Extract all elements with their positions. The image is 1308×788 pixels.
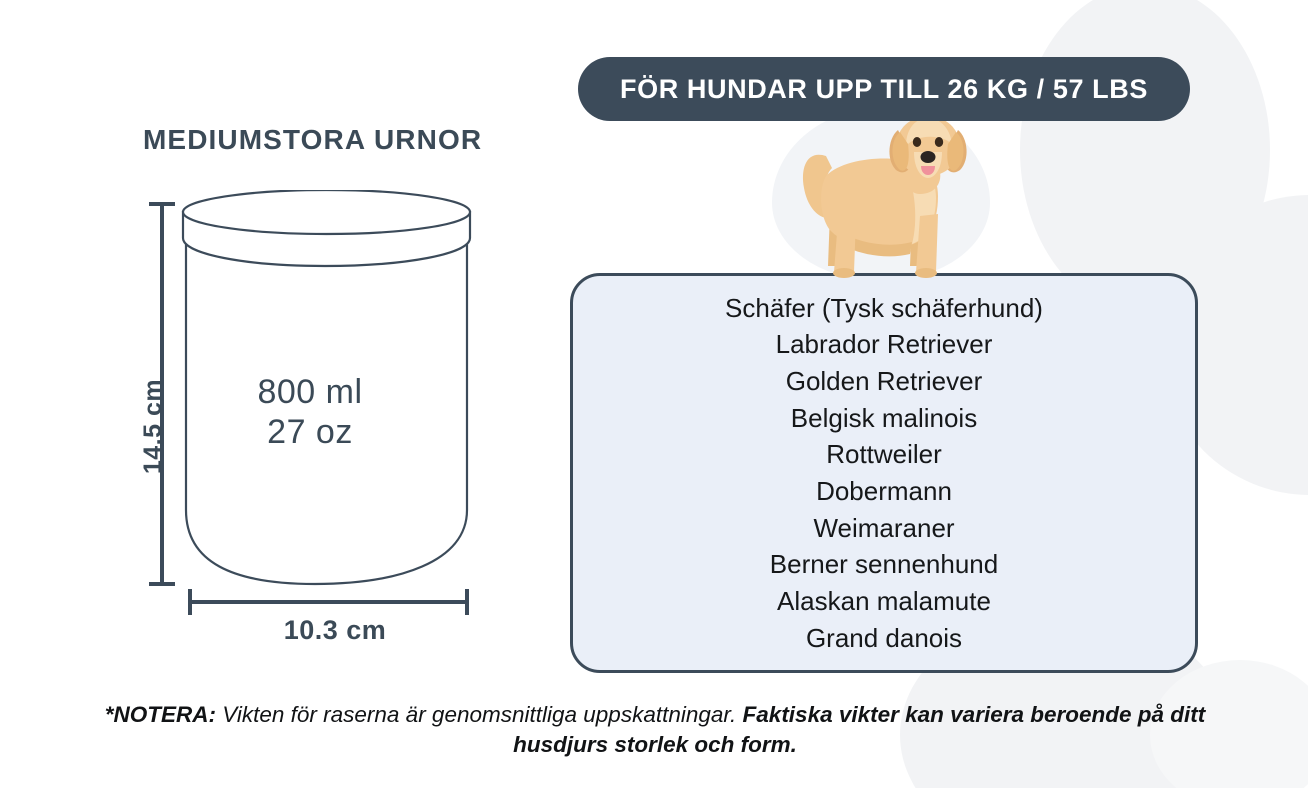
urn-diagram: 800 ml 27 oz 14.5 cm 10.3 cm <box>110 190 510 670</box>
dog-nose <box>921 151 936 163</box>
breed-item: Belgisk malinois <box>791 400 977 437</box>
breed-item: Schäfer (Tysk schäferhund) <box>725 290 1043 327</box>
urn-illustration-svg <box>110 190 510 670</box>
breed-item: Golden Retriever <box>786 363 983 400</box>
footnote-body-regular: Vikten för raserna är genomsnittliga upp… <box>216 702 743 727</box>
golden-retriever-icon <box>786 104 986 282</box>
background-circle-1 <box>1020 0 1270 315</box>
weight-banner-text: FÖR HUNDAR UPP TILL 26 KG / 57 LBS <box>620 74 1148 105</box>
footnote-label: *NOTERA: <box>105 702 216 727</box>
breed-item: Weimaraner <box>813 510 954 547</box>
breed-item: Berner sennenhund <box>770 546 998 583</box>
breed-list-panel: Schäfer (Tysk schäferhund) Labrador Retr… <box>570 273 1198 673</box>
breed-item: Rottweiler <box>826 436 942 473</box>
dog-eye-right <box>935 137 943 147</box>
width-dimension-line <box>190 589 467 615</box>
urn-body <box>186 238 467 584</box>
breed-item: Alaskan malamute <box>777 583 991 620</box>
urn-width-label: 10.3 cm <box>190 615 480 646</box>
dog-eye-left <box>913 137 921 147</box>
urn-lid-top <box>183 190 470 234</box>
urn-height-label: 14.5 cm <box>139 379 168 474</box>
weight-banner: FÖR HUNDAR UPP TILL 26 KG / 57 LBS <box>578 57 1190 121</box>
footnote: *NOTERA: Vikten för raserna är genomsnit… <box>100 700 1210 761</box>
breed-item: Dobermann <box>816 473 952 510</box>
breed-item: Grand danois <box>806 620 962 657</box>
section-title-medium-urns: MEDIUMSTORA URNOR <box>143 124 482 156</box>
breed-item: Labrador Retriever <box>776 326 993 363</box>
infographic-canvas: MEDIUMSTORA URNOR 800 ml 27 oz <box>0 0 1308 788</box>
